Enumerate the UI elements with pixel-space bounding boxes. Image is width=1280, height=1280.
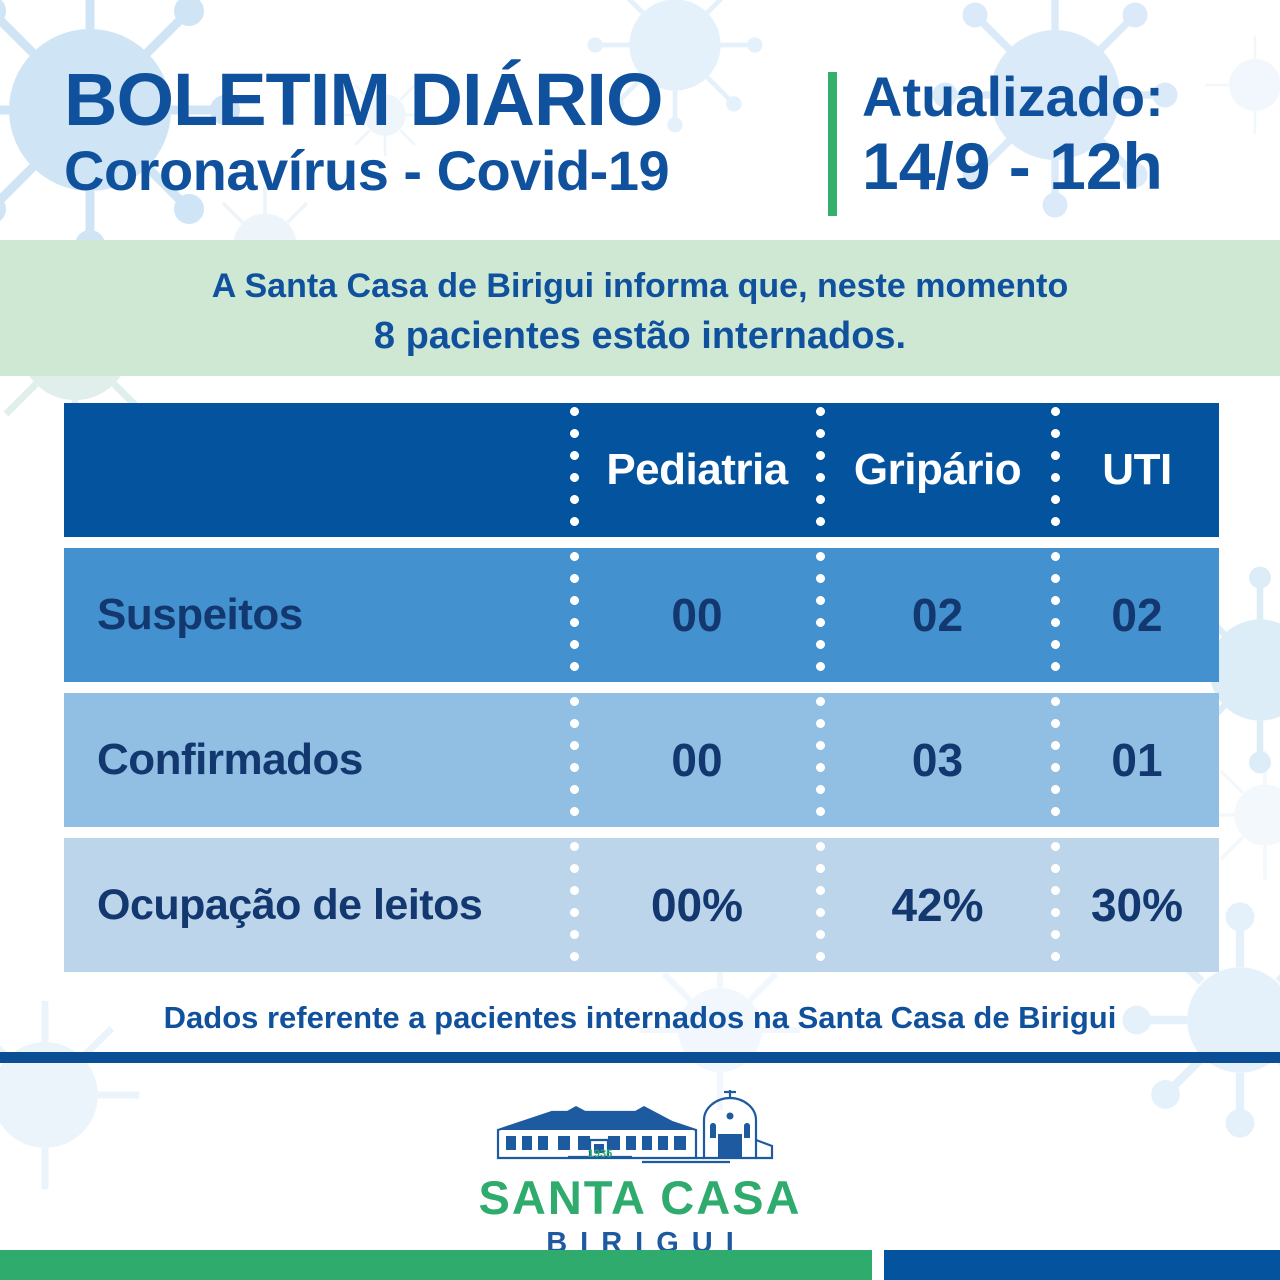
- cell-ocupacao-gripario: 42%: [820, 878, 1055, 932]
- banner-line-1: A Santa Casa de Birigui informa que, nes…: [0, 264, 1280, 308]
- cell-suspeitos-pediatria: 00: [574, 588, 820, 642]
- cell-ocupacao-pediatria: 00%: [574, 878, 820, 932]
- logo-year: 1935: [588, 1148, 612, 1160]
- updated-label: Atualizado:: [862, 66, 1262, 128]
- column-divider-2: [816, 838, 825, 972]
- table-caption: Dados referente a pacientes internados n…: [0, 1000, 1280, 1036]
- header-cell-gripario: Gripário: [820, 445, 1055, 495]
- poster-header: BOLETIM DIÁRIO Coronavírus - Covid-19 At…: [0, 0, 1280, 240]
- banner-line-2: 8 pacientes estão internados.: [0, 312, 1280, 360]
- column-divider-3: [1051, 403, 1060, 537]
- column-divider-1: [570, 548, 579, 682]
- column-divider-2: [816, 693, 825, 827]
- cell-suspeitos-uti: 02: [1055, 588, 1219, 642]
- row-label-suspeitos: Suspeitos: [64, 590, 574, 640]
- footer-bar-green: [0, 1250, 872, 1280]
- column-divider-2: [816, 548, 825, 682]
- row-label-confirmados: Confirmados: [64, 735, 574, 785]
- info-banner: A Santa Casa de Birigui informa que, nes…: [0, 240, 1280, 376]
- poster-root: BOLETIM DIÁRIO Coronavírus - Covid-19 At…: [0, 0, 1280, 1280]
- table-row: Confirmados 00 03 01: [64, 693, 1219, 827]
- header-left: BOLETIM DIÁRIO Coronavírus - Covid-19: [64, 62, 824, 202]
- header-right: Atualizado: 14/9 - 12h: [862, 66, 1262, 202]
- cell-confirmados-gripario: 03: [820, 733, 1055, 787]
- header-cell-pediatria: Pediatria: [574, 445, 820, 495]
- cell-confirmados-pediatria: 00: [574, 733, 820, 787]
- header-divider: [828, 72, 837, 216]
- column-divider-1: [570, 403, 579, 537]
- logo-name: SANTA CASA: [0, 1172, 1280, 1224]
- header-cell-uti: UTI: [1055, 445, 1219, 495]
- column-divider-3: [1051, 548, 1060, 682]
- footer-bar-blue: [884, 1250, 1280, 1280]
- column-divider-3: [1051, 838, 1060, 972]
- row-label-ocupacao: Ocupação de leitos: [64, 881, 574, 930]
- cell-confirmados-uti: 01: [1055, 733, 1219, 787]
- cell-ocupacao-uti: 30%: [1055, 878, 1219, 932]
- column-divider-1: [570, 838, 579, 972]
- section-divider-bar: [0, 1052, 1280, 1063]
- cell-suspeitos-gripario: 02: [820, 588, 1055, 642]
- page-subtitle: Coronavírus - Covid-19: [64, 140, 824, 202]
- page-title: BOLETIM DIÁRIO: [64, 62, 824, 138]
- table-row: Ocupação de leitos 00% 42% 30%: [64, 838, 1219, 972]
- updated-value: 14/9 - 12h: [862, 130, 1262, 202]
- occupancy-table: Pediatria Gripário UTI Suspeitos 00 02 0…: [64, 403, 1219, 983]
- column-divider-3: [1051, 693, 1060, 827]
- table-row: Suspeitos 00 02 02: [64, 548, 1219, 682]
- hospital-building-icon: 1935: [490, 1090, 790, 1170]
- santa-casa-logo: 1935 SANTA CASA BIRIGUI: [0, 1090, 1280, 1260]
- table-header-row: Pediatria Gripário UTI: [64, 403, 1219, 537]
- column-divider-1: [570, 693, 579, 827]
- column-divider-2: [816, 403, 825, 537]
